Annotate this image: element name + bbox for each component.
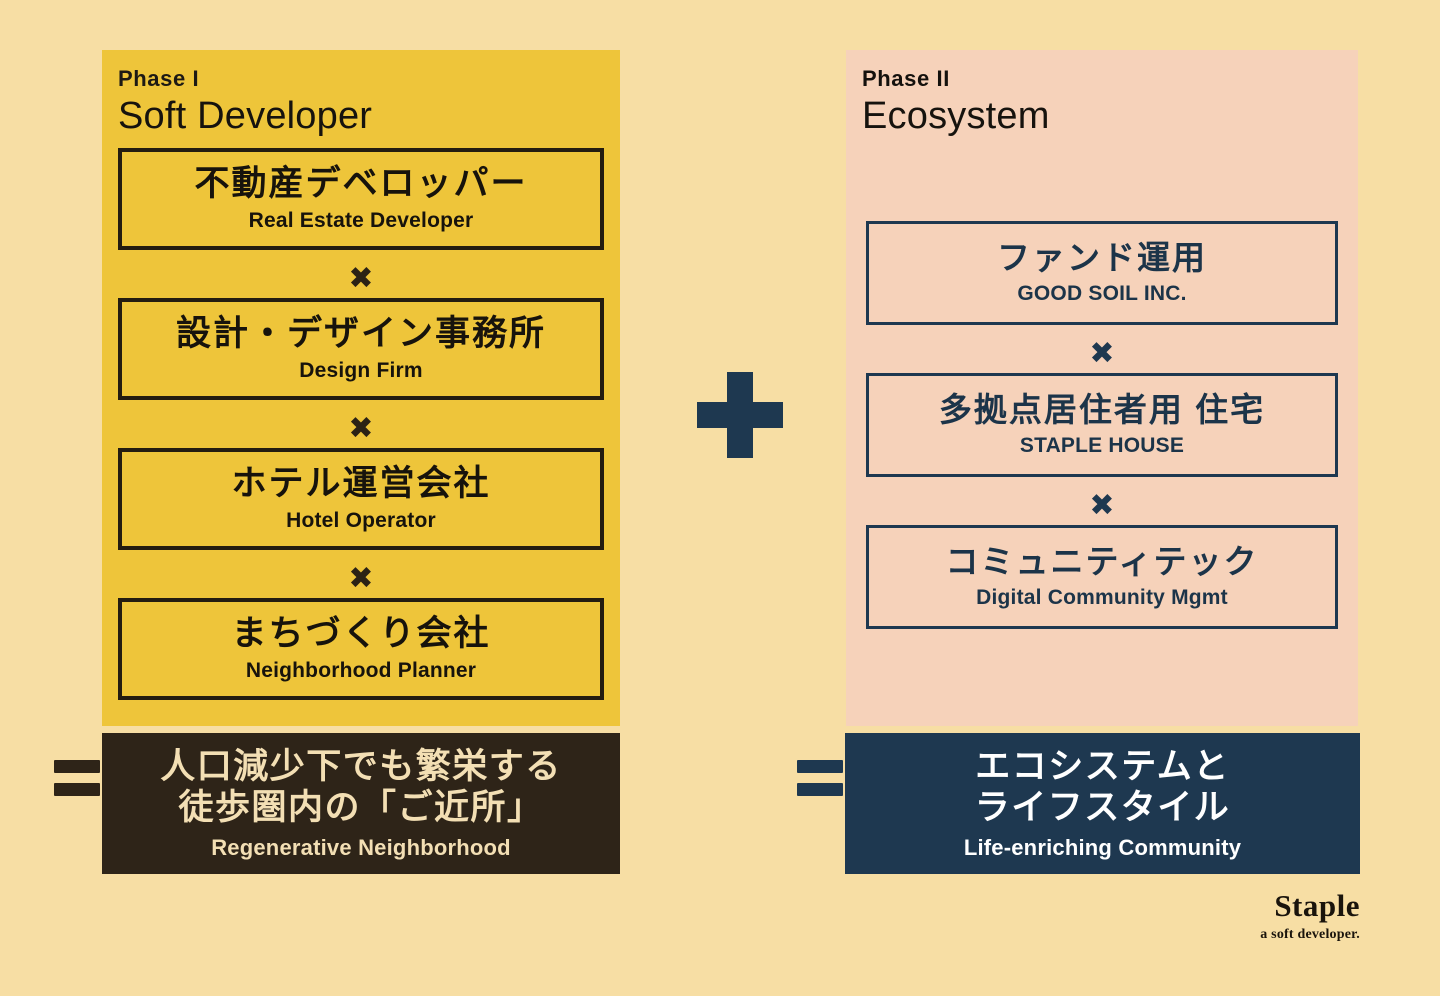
phase-2-kicker: Phase II [862, 66, 1050, 91]
phase-1-item-3-en: Hotel Operator [286, 509, 436, 533]
logo-tagline: a soft developer. [1165, 928, 1360, 942]
phase-1-item-box-2[interactable]: 設計・デザイン事務所 Design Firm [118, 298, 604, 400]
phase-1-title: Soft Developer [118, 93, 372, 141]
phase-2-item-3-en: Digital Community Mgmt [976, 586, 1228, 610]
phase-2-result: エコシステムと ライフスタイル Life-enriching Community [845, 733, 1360, 874]
equals-icon-left [54, 760, 100, 802]
phase-2-panel: Phase II Ecosystem ファンド運用 GOOD SOIL INC.… [846, 50, 1358, 726]
phase-1-item-box-1[interactable]: 不動産デベロッパー Real Estate Developer [118, 148, 604, 250]
phase-1-result-en: Regenerative Neighborhood [211, 835, 511, 861]
phase-1-item-3-jp: ホテル運営会社 [231, 465, 490, 504]
equals-bar-bottom [797, 783, 843, 796]
phase-2-item-2-en: STAPLE HOUSE [1020, 434, 1184, 458]
phase-1-item-box-4[interactable]: まちづくり会社 Neighborhood Planner [118, 598, 604, 700]
phase-1-result: 人口減少下でも繁栄する 徒歩圏内の「ご近所」 Regenerative Neig… [102, 733, 620, 874]
phase-1-item-4-en: Neighborhood Planner [246, 659, 476, 683]
phase-1-item-1-jp: 不動産デベロッパー [194, 165, 527, 204]
phase-2-item-box-1[interactable]: ファンド運用 GOOD SOIL INC. [866, 221, 1338, 325]
phase-2-result-en: Life-enriching Community [964, 835, 1241, 861]
phase-2-item-box-2[interactable]: 多拠点居住者用 住宅 STAPLE HOUSE [866, 373, 1338, 477]
phase-2-result-jp-line1: エコシステムと [975, 746, 1229, 787]
equals-icon-right [797, 760, 843, 802]
phase-2-item-box-3[interactable]: コミュニティテック Digital Community Mgmt [866, 525, 1338, 629]
equals-bar-top [797, 760, 843, 773]
equals-bar-top [54, 760, 100, 773]
phase-1-item-1-en: Real Estate Developer [249, 209, 474, 233]
multiply-icon: ✖ [846, 339, 1358, 369]
phase-2-item-1-jp: ファンド運用 [997, 240, 1207, 276]
phase-1-result-jp-line2: 徒歩圏内の「ご近所」 [178, 787, 543, 828]
phase-1-item-2-jp: 設計・デザイン事務所 [176, 315, 546, 354]
logo-wordmark: Staple [1165, 890, 1360, 921]
plus-icon [697, 372, 783, 458]
multiply-icon: ✖ [102, 264, 620, 294]
phase-1-item-box-3[interactable]: ホテル運営会社 Hotel Operator [118, 448, 604, 550]
multiply-icon: ✖ [846, 491, 1358, 521]
multiply-icon: ✖ [102, 564, 620, 594]
phase-1-heading: Phase I Soft Developer [118, 66, 372, 141]
phase-2-item-3-jp: コミュニティテック [945, 544, 1258, 580]
phase-2-heading: Phase II Ecosystem [862, 66, 1050, 141]
phase-1-result-jp-line1: 人口減少下でも繁栄する [160, 746, 562, 787]
phase-1-item-4-jp: まちづくり会社 [231, 615, 490, 654]
phase-1-panel: Phase I Soft Developer 不動産デベロッパー Real Es… [102, 50, 620, 726]
equals-bar-bottom [54, 783, 100, 796]
phase-2-result-jp-line2: ライフスタイル [975, 787, 1231, 828]
phase-1-kicker: Phase I [118, 66, 372, 91]
phase-2-item-2-jp: 多拠点居住者用 住宅 [939, 392, 1265, 428]
phase-1-item-2-en: Design Firm [299, 359, 423, 383]
phase-2-title: Ecosystem [862, 93, 1050, 141]
diagram-canvas: Phase I Soft Developer 不動産デベロッパー Real Es… [0, 0, 1440, 996]
staple-logo: Staple a soft developer. [1165, 890, 1360, 942]
multiply-icon: ✖ [102, 414, 620, 444]
phase-2-item-1-en: GOOD SOIL INC. [1017, 282, 1186, 306]
